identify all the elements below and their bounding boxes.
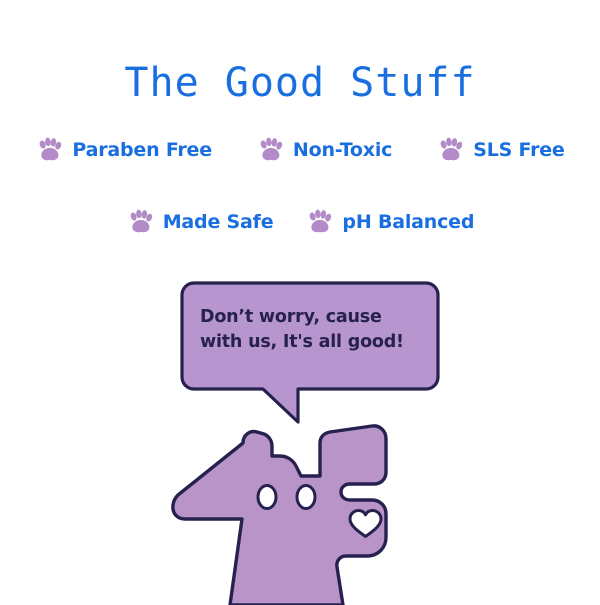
dog-mascot (160, 415, 430, 605)
paw-print-icon (126, 208, 154, 236)
paw-print-icon (35, 136, 63, 164)
badge-row-bottom: Made Safe pH Balanced (0, 208, 600, 236)
badge-label: Non-Toxic (293, 139, 392, 161)
paw-print-icon (436, 136, 464, 164)
badge-ph-balanced: pH Balanced (305, 208, 474, 236)
page-title: The Good Stuff (0, 60, 600, 106)
poster-canvas: The Good Stuff Paraben Free (0, 0, 600, 600)
paw-print-icon (256, 136, 284, 164)
badge-sls-free: SLS Free (436, 136, 564, 164)
speech-bubble-line-1: Don’t worry, cause (200, 305, 428, 330)
badge-label: SLS Free (473, 139, 564, 161)
dog-eye-left (258, 486, 276, 509)
speech-bubble-line-2: with us, It's all good! (200, 330, 428, 355)
badge-label: Paraben Free (72, 139, 212, 161)
badge-label: pH Balanced (342, 211, 474, 233)
badge-paraben-free: Paraben Free (35, 136, 212, 164)
badge-row-top: Paraben Free Non-Toxic (0, 136, 600, 164)
dog-eye-right (297, 486, 315, 509)
paw-print-icon (305, 208, 333, 236)
badge-made-safe: Made Safe (126, 208, 274, 236)
badge-non-toxic: Non-Toxic (256, 136, 392, 164)
speech-bubble: Don’t worry, cause with us, It's all goo… (170, 276, 450, 431)
speech-bubble-text: Don’t worry, cause with us, It's all goo… (200, 305, 428, 355)
badge-label: Made Safe (163, 211, 274, 233)
